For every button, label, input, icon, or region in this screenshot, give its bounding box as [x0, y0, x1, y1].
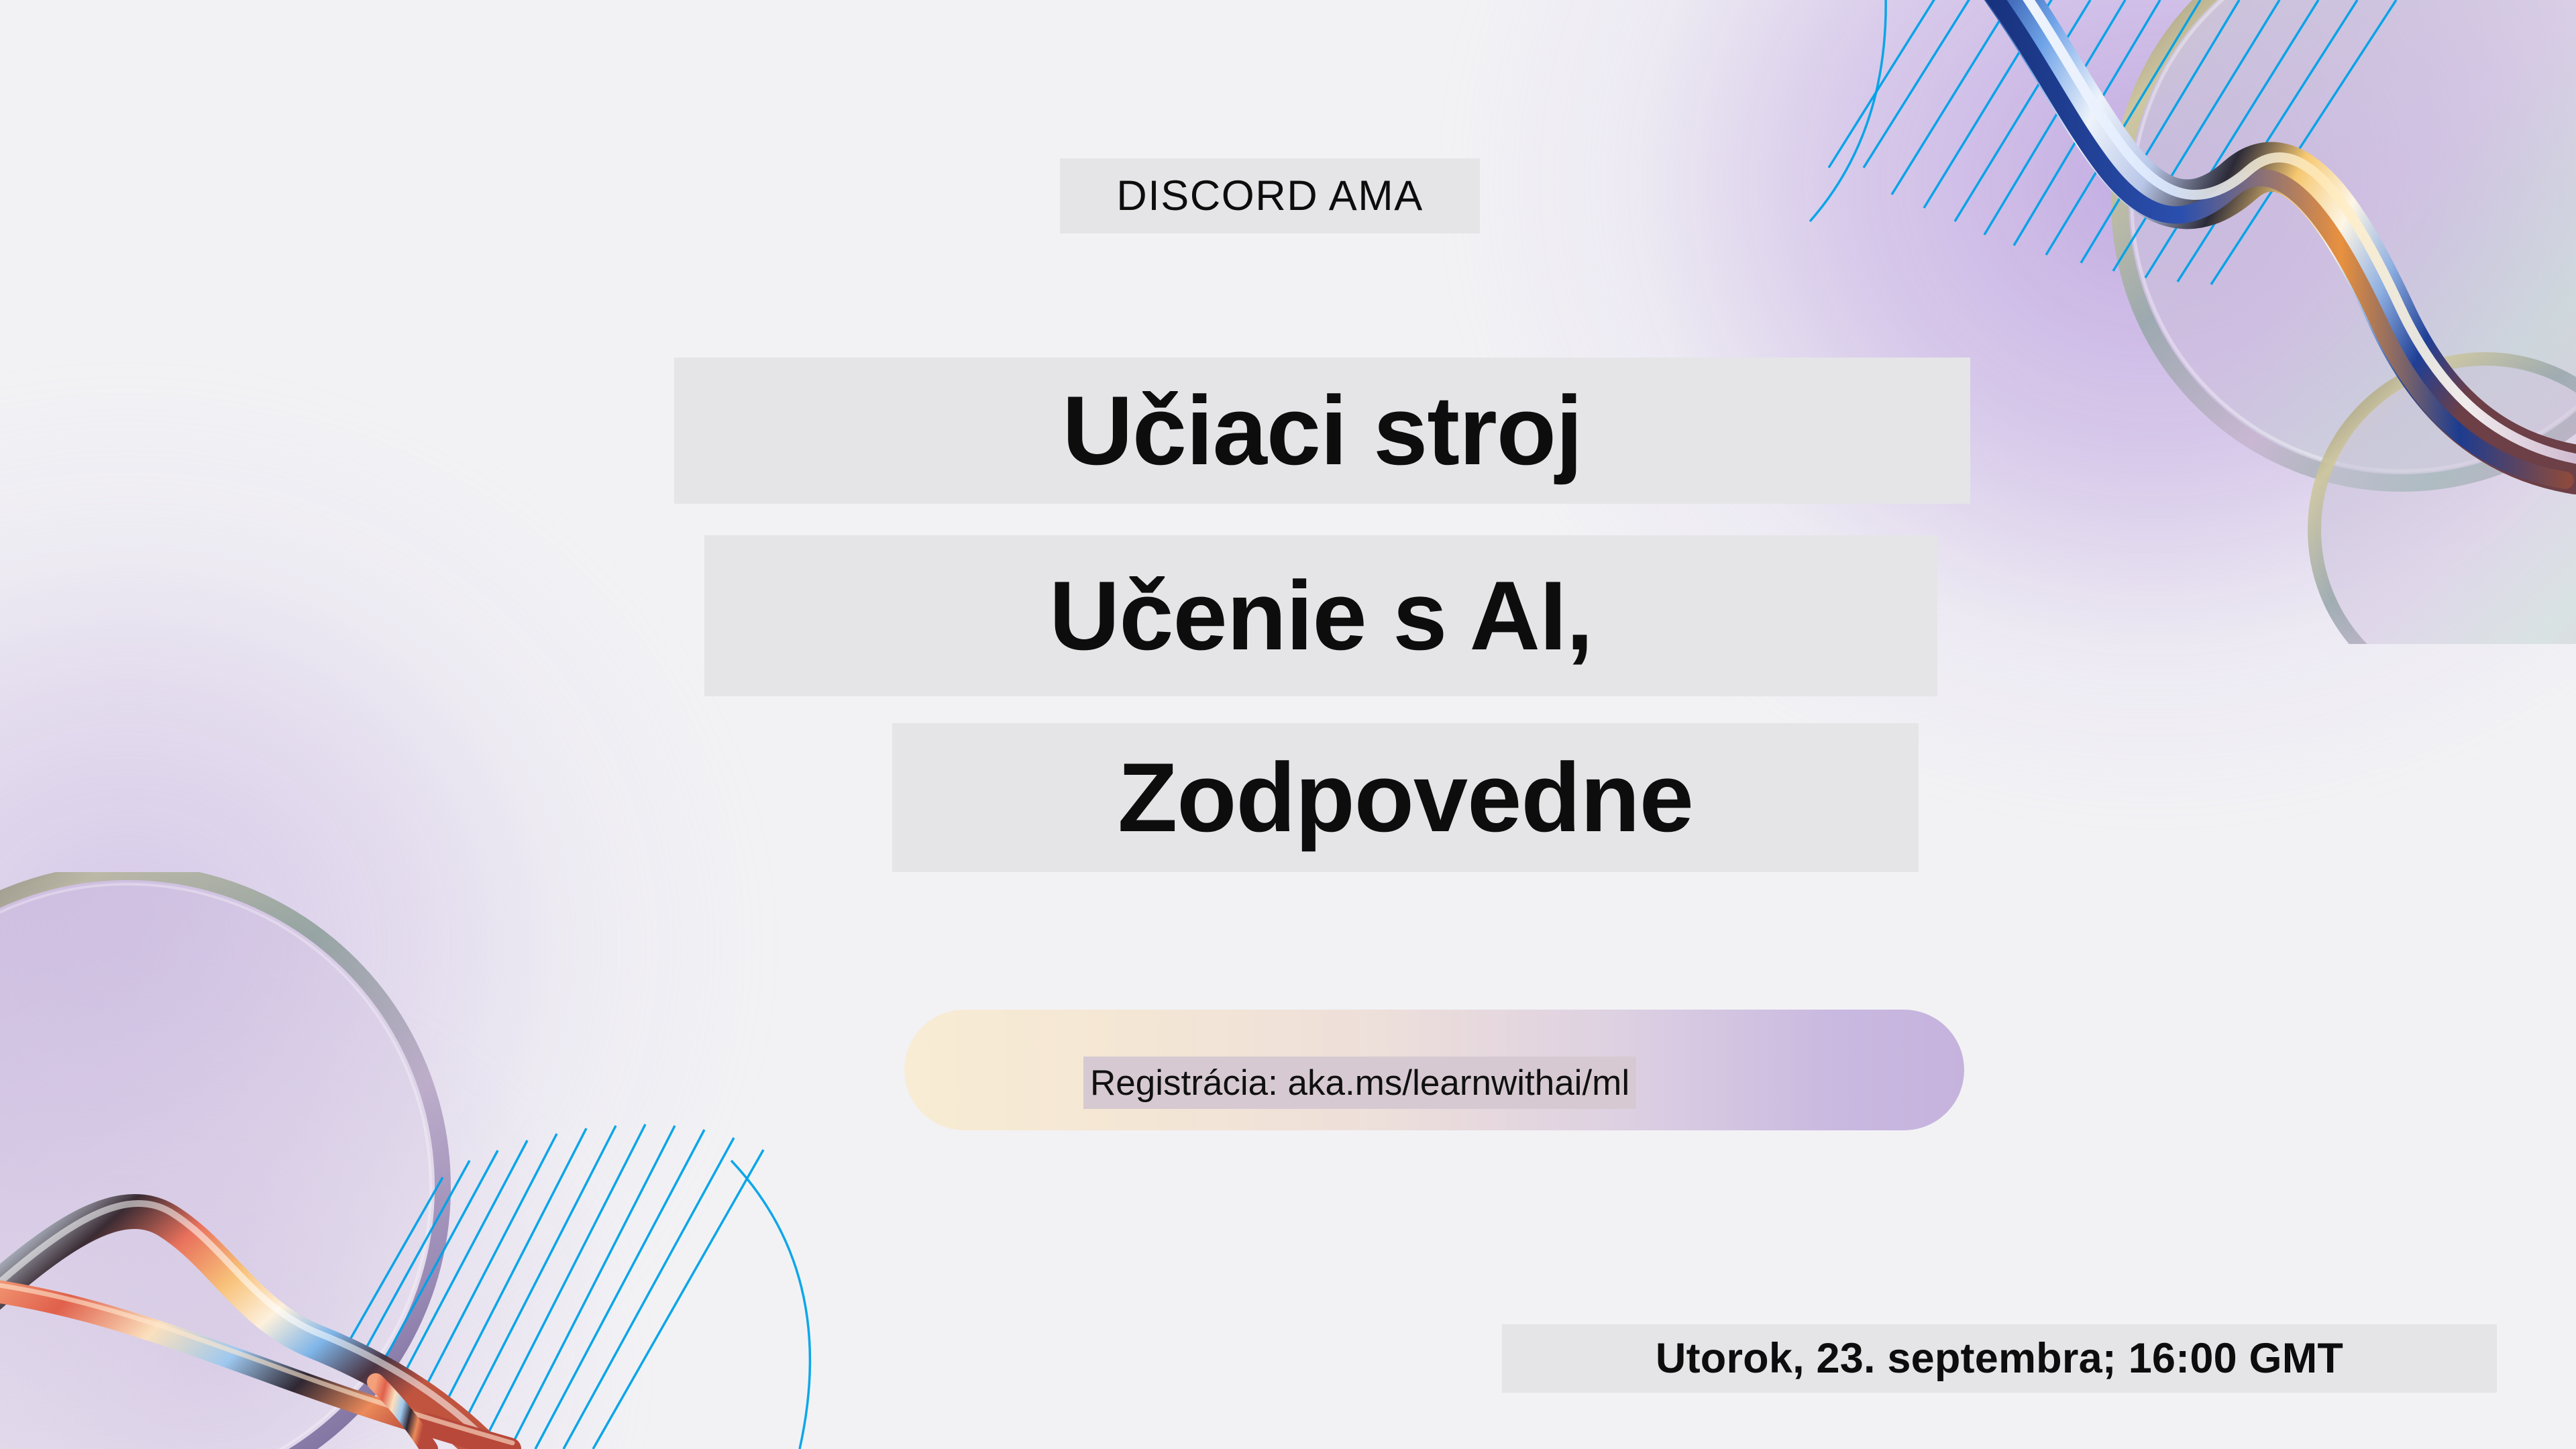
title-line-1: Učiaci stroj	[674, 358, 1970, 504]
title-line-1-text: Učiaci stroj	[674, 358, 1970, 504]
promo-slide: DISCORD AMA Učiaci stroj Učenie s AI, Zo…	[0, 0, 2576, 1449]
background-glow-left	[0, 376, 765, 1449]
decoration-bottom-left	[0, 872, 872, 1449]
background-glow-bottom-left	[0, 979, 637, 1449]
registration-cta-button[interactable]: Registrácia: aka.ms/learnwithai/ml	[904, 1010, 1964, 1130]
title-line-3: Zodpovedne	[892, 723, 1919, 872]
eyebrow-label: DISCORD AMA	[1060, 158, 1480, 233]
title-line-2: Učenie s AI,	[704, 535, 1937, 696]
registration-cta-label: Registrácia: aka.ms/learnwithai/ml	[1083, 1057, 1636, 1109]
event-date-time: Utorok, 23. septembra; 16:00 GMT	[1502, 1324, 2497, 1393]
